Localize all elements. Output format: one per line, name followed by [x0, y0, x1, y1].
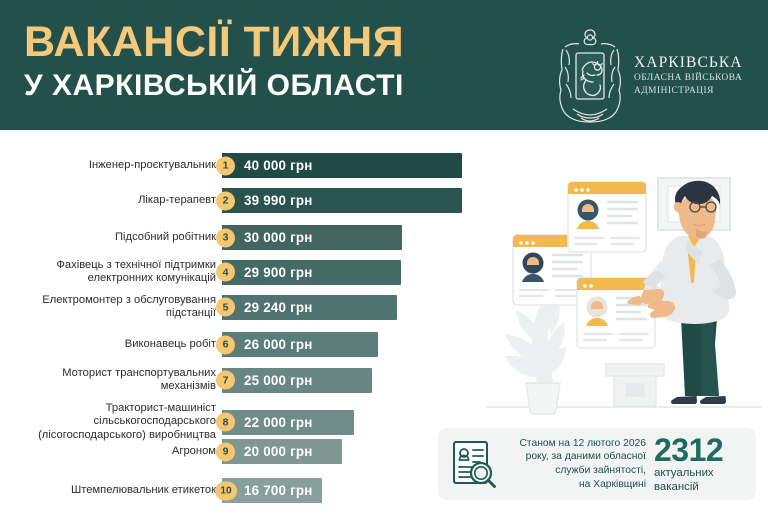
salary-value: 26 000 грн: [244, 337, 313, 352]
organization-logo: ХАРКІВСЬКА ОБЛАСНА ВІЙСЬКОВА АДМІНІСТРАЦ…: [553, 27, 743, 124]
job-title-label: Інженер-проєктувальник: [0, 159, 222, 172]
rank-badge: 3: [216, 228, 235, 247]
logo-line-2: ОБЛАСНА ВІЙСЬКОВА: [634, 72, 743, 85]
vacancy-count-block: 2312 актуальних вакансій: [654, 434, 723, 494]
document-search-icon: [452, 440, 498, 488]
job-title-label: Тракторист-машиніст сільськогосподарсько…: [0, 402, 222, 442]
rank-badge: 7: [216, 371, 235, 390]
title-line-2: У ХАРКІВСЬКІЙ ОБЛАСТІ: [24, 68, 404, 104]
salary-value: 29 240 грн: [244, 300, 313, 315]
salary-bar: 1016 700 грн: [222, 478, 322, 503]
job-title-label: Моторист транспортувальних механізмів: [0, 367, 222, 394]
salary-bar: 330 000 грн: [222, 225, 402, 250]
salary-bar: 626 000 грн: [222, 332, 378, 357]
salary-bar: 140 000 грн: [222, 153, 462, 178]
chart-row: Лікар-терапевт239 990 грн: [0, 188, 500, 213]
salary-value: 22 000 грн: [244, 415, 313, 430]
rank-badge: 5: [216, 298, 235, 317]
header-banner: ВАКАНСІЇ ТИЖНЯ У ХАРКІВСЬКІЙ ОБЛАСТІ: [0, 0, 768, 130]
vacancy-count-caption: актуальних вакансій: [654, 466, 723, 494]
job-title-label: Штемпелювальник етикеток: [0, 484, 222, 497]
job-title-label: Агроном: [0, 445, 222, 458]
job-title-label: Підсобний робітник: [0, 231, 222, 244]
logo-text-block: ХАРКІВСЬКА ОБЛАСНА ВІЙСЬКОВА АДМІНІСТРАЦ…: [634, 53, 743, 98]
job-title-label: Лікар-терапевт: [0, 194, 222, 207]
rank-badge: 10: [215, 481, 237, 500]
chart-row: Виконавець робіт626 000 грн: [0, 332, 500, 357]
infographic-root: ВАКАНСІЇ ТИЖНЯ У ХАРКІВСЬКІЙ ОБЛАСТІ: [0, 0, 768, 523]
chart-row: Агроном920 000 грн: [0, 439, 500, 464]
salary-bar: 920 000 грн: [222, 439, 342, 464]
kharkiv-coat-of-arms-icon: [553, 27, 627, 124]
rank-badge: 8: [216, 413, 235, 432]
vacancy-bar-chart: Інженер-проєктувальник140 000 грнЛікар-т…: [0, 130, 500, 523]
logo-line-3: АДМІНІСТРАЦІЯ: [634, 85, 743, 98]
salary-value: 16 700 грн: [244, 483, 313, 498]
rank-badge: 9: [216, 442, 235, 461]
logo-line-1: ХАРКІВСЬКА: [634, 53, 743, 72]
chart-row: Підсобний робітник330 000 грн: [0, 225, 500, 250]
salary-value: 25 000 грн: [244, 373, 313, 388]
job-title-label: Виконавець робіт: [0, 338, 222, 351]
chart-row: Фахівець з технічної підтримки електронн…: [0, 259, 500, 286]
salary-bar: 725 000 грн: [222, 368, 372, 393]
cv-card-bottom: [577, 278, 655, 348]
salary-bar: 529 240 грн: [222, 295, 397, 320]
vacancy-count-number: 2312: [654, 434, 723, 466]
chart-row: Штемпелювальник етикеток1016 700 грн: [0, 478, 500, 503]
salary-bar: 429 900 грн: [222, 260, 401, 285]
chart-row: Тракторист-машиніст сільськогосподарсько…: [0, 402, 500, 442]
rank-badge: 1: [216, 156, 235, 175]
chart-row: Електромонтер з обслуговування підстанці…: [0, 294, 500, 321]
salary-value: 20 000 грн: [244, 444, 313, 459]
page-title: ВАКАНСІЇ ТИЖНЯ У ХАРКІВСЬКІЙ ОБЛАСТІ: [24, 18, 404, 104]
salary-value: 30 000 грн: [244, 230, 313, 245]
statistics-description: Станом на 12 лютого 2026 року, за даними…: [502, 437, 646, 491]
rank-badge: 6: [216, 335, 235, 354]
chart-row: Моторист транспортувальних механізмів725…: [0, 367, 500, 394]
salary-value: 39 990 грн: [244, 193, 313, 208]
job-title-label: Електромонтер з обслуговування підстанці…: [0, 294, 222, 321]
chart-row: Інженер-проєктувальник140 000 грн: [0, 153, 500, 178]
salary-bar: 239 990 грн: [222, 188, 462, 213]
job-title-label: Фахівець з технічної підтримки електронн…: [0, 259, 222, 286]
salary-bar: 822 000 грн: [222, 410, 354, 435]
recruiter-reviewing-cv-cards-illustration: [480, 150, 768, 428]
rank-badge: 2: [216, 191, 235, 210]
desk-icon: [606, 364, 664, 406]
cv-card-top: [568, 182, 646, 252]
salary-value: 29 900 грн: [244, 265, 313, 280]
title-line-1: ВАКАНСІЇ ТИЖНЯ: [24, 18, 404, 66]
rank-badge: 4: [216, 263, 235, 282]
statistics-info-box: Станом на 12 лютого 2026 року, за даними…: [438, 428, 756, 500]
salary-value: 40 000 грн: [244, 158, 313, 173]
